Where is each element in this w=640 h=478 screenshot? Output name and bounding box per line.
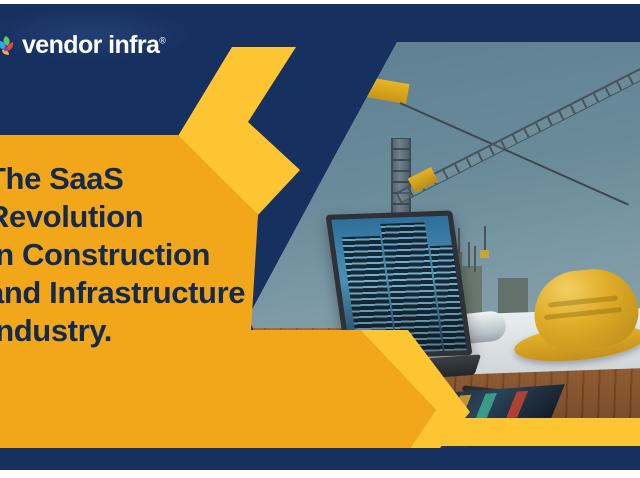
tablet-screen-content: [407, 389, 559, 424]
laptop-wallpaper: [331, 216, 466, 355]
crane-hook-block: [480, 250, 489, 258]
bottom-frame-strip: [0, 470, 640, 478]
brand-name-text: vendor infra: [22, 31, 159, 59]
rebar-icon: [468, 242, 470, 268]
leaf-cluster-icon: [0, 34, 16, 56]
rebar-icon: [474, 246, 476, 272]
registered-trademark-icon: ®: [159, 35, 165, 45]
promo-banner: The SaaS Revolution in Construction and …: [0, 0, 640, 478]
crane-hook-line: [484, 226, 486, 252]
rebar-icon: [458, 228, 460, 254]
laptop-screen: [326, 210, 473, 359]
brand-logo[interactable]: vendor infra®: [0, 28, 165, 62]
page-title: The SaaS Revolution in Construction and …: [0, 160, 317, 350]
brand-name: vendor infra®: [22, 31, 165, 60]
top-frame-strip: [0, 0, 640, 4]
